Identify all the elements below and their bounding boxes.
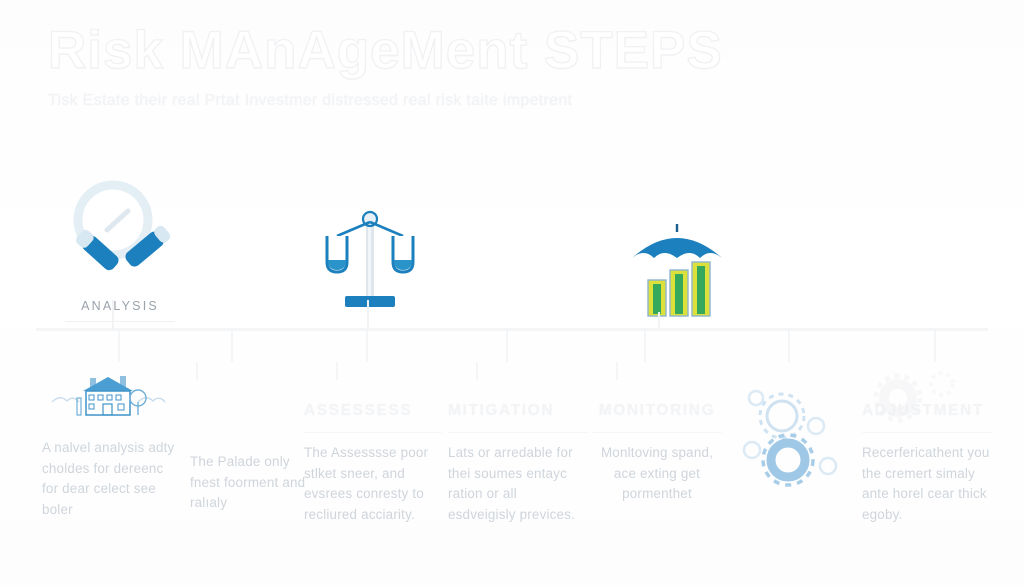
icon-riser: [112, 300, 114, 330]
timeline-step-analysis[interactable]: ANALYSIS: [40, 178, 200, 322]
step-heading-3: ASSESSESS: [304, 402, 442, 422]
label-underline: [65, 321, 175, 322]
step-column-1[interactable]: A nalvel analysis adty choldes for deree…: [42, 372, 176, 520]
step-body-1: A nalvel analysis adty choldes for deree…: [42, 438, 176, 520]
heading-rule: [592, 432, 722, 433]
step-column-5[interactable]: MONITORING Monltoving spand, ace exting …: [592, 402, 722, 505]
connector-drop: [934, 328, 936, 362]
magnifier-icon: [65, 178, 175, 286]
connector-drop: [644, 328, 646, 362]
step-body-6: Recerfericathent you the cremert simaly …: [862, 443, 992, 525]
icon-riser: [658, 312, 660, 330]
gears-icon: [736, 380, 846, 495]
step-column-2[interactable]: The Palade only fnest foorment and ralıa…: [190, 432, 318, 514]
heading-rule: [304, 432, 442, 433]
connector-drop: [118, 328, 120, 362]
step-body-3: The Assesssse poor stlket sneer, and evs…: [304, 443, 442, 525]
page-subtitle: Tisk Estate their real Prtat Investmer d…: [48, 92, 978, 110]
heading-rule: [862, 432, 992, 433]
step-body-4: Lats or arredable for thei soumes entayc…: [448, 443, 588, 525]
step-column-3[interactable]: ASSESSESS The Assesssse poor stlket snee…: [304, 402, 442, 525]
connector-drop: [506, 328, 508, 362]
house-icon-slot: [42, 372, 176, 418]
step-column-4[interactable]: MITIGATION Lats or arredable for thei so…: [448, 402, 588, 525]
timeline-label-analysis: ANALYSIS: [40, 299, 200, 313]
header: Risk MAnAgeMent STEPS Tisk Estate their …: [48, 22, 978, 110]
house-icon: [50, 372, 168, 418]
step-heading-5: MONITORING: [592, 402, 722, 422]
timeline-step-assessment[interactable]: [290, 200, 450, 328]
gear-cluster-slot: [736, 380, 846, 500]
step-heading-2: [190, 432, 318, 452]
step-body-2: The Palade only fnest foorment and ralıa…: [190, 452, 318, 514]
ghost-gear-icon: [864, 368, 984, 428]
icon-riser: [367, 300, 369, 330]
page-title: Risk MAnAgeMent STEPS: [48, 22, 978, 80]
timeline-icon-row: ANALYSIS: [0, 170, 1024, 330]
scales-icon: [315, 200, 425, 315]
step-body-5: Monltoving spand, ace exting get porment…: [592, 443, 722, 505]
connector-drop: [366, 328, 368, 362]
timeline-step-monitoring[interactable]: [592, 218, 762, 331]
step-heading-1: [42, 418, 176, 438]
heading-rule: [448, 432, 588, 433]
infographic-canvas: Risk MAnAgeMent STEPS Tisk Estate their …: [0, 0, 1024, 585]
connector-drop: [231, 328, 233, 362]
connector-rail: [36, 328, 988, 331]
steps-column-row: A nalvel analysis adty choldes for deree…: [0, 372, 1024, 542]
umbrella-bars-icon: [612, 218, 742, 318]
step-heading-4: MITIGATION: [448, 402, 588, 422]
step-column-6[interactable]: ADJUSTMENT Recerfericathent you the crem…: [862, 402, 992, 525]
connector-drop: [788, 328, 790, 362]
